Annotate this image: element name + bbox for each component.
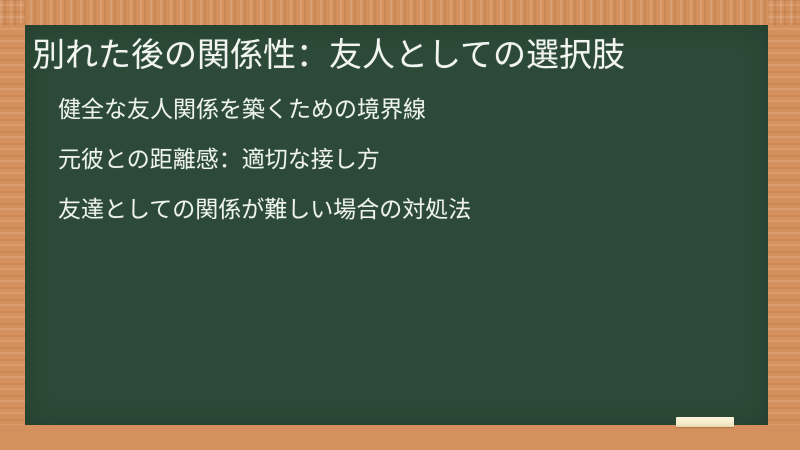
- list-item: 健全な友人関係を築くための境界線: [31, 99, 750, 122]
- chalkboard-surface: 別れた後の関係性：友人としての選択肢 健全な友人関係を築くための境界線 元彼との…: [25, 25, 768, 425]
- list-item: 元彼との距離感：適切な接し方: [31, 149, 750, 172]
- chalkboard-content: 別れた後の関係性：友人としての選択肢 健全な友人関係を築くための境界線 元彼との…: [25, 25, 768, 425]
- frame-bottom-ledge: [0, 425, 800, 450]
- slide-topic-list: 健全な友人関係を築くための境界線 元彼との距離感：適切な接し方 友達としての関係…: [31, 99, 750, 222]
- frame-left-rail: [0, 0, 25, 450]
- frame-right-rail: [768, 0, 800, 450]
- list-item: 友達としての関係が難しい場合の対処法: [31, 199, 750, 222]
- chalk-stick-icon: [676, 417, 734, 427]
- frame-top-rail: [0, 0, 800, 25]
- slide-title: 別れた後の関係性：友人としての選択肢: [31, 31, 750, 77]
- chalkboard-frame: 別れた後の関係性：友人としての選択肢 健全な友人関係を築くための境界線 元彼との…: [0, 0, 800, 450]
